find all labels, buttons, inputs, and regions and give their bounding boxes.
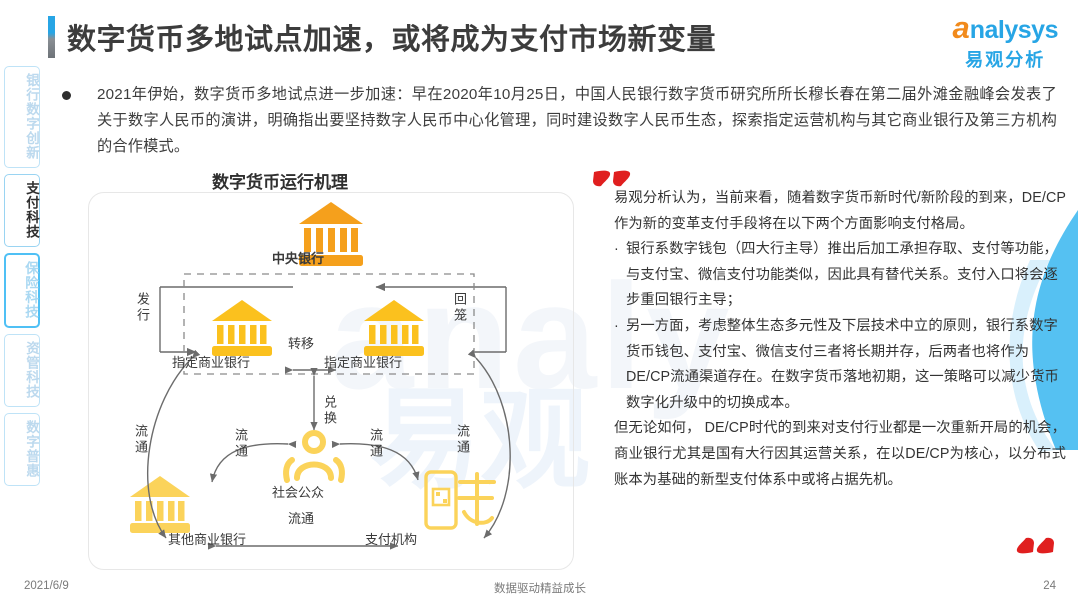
footer-page-number: 24 xyxy=(1043,580,1056,592)
payment-org-icon xyxy=(426,472,494,528)
diagram-label-designated-bank-left: 指定商业银行 xyxy=(172,352,250,371)
diagram-label-payment-org: 支付机构 xyxy=(365,529,417,548)
commentary-bullet-dot-icon: · xyxy=(614,237,626,314)
commentary-outro: 但无论如何， DE/CP时代的到来对支付行业都是一次重新开局的机会，商业银行尤其… xyxy=(614,416,1066,493)
commentary-intro: 易观分析认为，当前来看，随着数字货币新时代/新阶段的到来，DE/CP作为新的变革… xyxy=(614,186,1066,237)
diagram-label-recall: 回笼 xyxy=(450,292,469,324)
footer: 2021/6/9 数据驱动精益成长 24 xyxy=(0,580,1080,600)
intro-paragraph-text: 2021年伊始，数字货币多地试点进一步加速：早在2020年10月25日，中国人民… xyxy=(97,82,1057,160)
sidebar-tabs: 银行数字创新 支付科技 保险科技 资管科技 数字普惠 xyxy=(4,66,44,492)
diagram-label-designated-bank-right: 指定商业银行 xyxy=(324,352,402,371)
diagram-title: 数字货币运行机理 xyxy=(0,168,560,193)
commentary-bullet-1-text: 银行系数字钱包（四大行主导）推出后加工承担存取、支付等功能，与支付宝、微信支付功… xyxy=(626,237,1066,314)
title-accent-bar xyxy=(48,16,55,58)
designated-bank-right-icon xyxy=(364,300,424,356)
diagram-label-public: 社会公众 xyxy=(272,482,324,501)
diagram-label-circulate-right: 流通 xyxy=(453,424,472,456)
footer-slogan: 数据驱动精益成长 xyxy=(0,580,1080,596)
diagram-label-exchange: 兑换 xyxy=(320,395,339,427)
diagram-label-transfer: 转移 xyxy=(288,333,314,352)
commentary-bullet-1: · 银行系数字钱包（四大行主导）推出后加工承担存取、支付等功能，与支付宝、微信支… xyxy=(614,237,1066,314)
diagram-graphic xyxy=(88,192,574,570)
diagram-label-circulate-bottom: 流通 xyxy=(288,508,314,527)
diagram-label-circulate-left: 流通 xyxy=(131,424,150,456)
public-person-icon xyxy=(286,433,342,480)
diagram-label-central-bank: 中央银行 xyxy=(272,248,324,267)
logo-chinese-name: 易观分析 xyxy=(953,46,1059,72)
commentary-panel: 易观分析认为，当前来看，随着数字货币新时代/新阶段的到来，DE/CP作为新的变革… xyxy=(614,186,1066,493)
sidebar-item-asset-management-tech[interactable]: 资管科技 xyxy=(4,334,40,407)
diagram-label-other-bank: 其他商业银行 xyxy=(168,529,246,548)
sidebar-item-bank-digital-innovation[interactable]: 银行数字创新 xyxy=(4,66,40,168)
page-title: 数字货币多地试点加速，或将成为支付市场新变量 xyxy=(48,16,716,58)
logo-a-mark: a xyxy=(953,10,970,45)
sidebar-item-digital-inclusive-finance[interactable]: 数字普惠 xyxy=(4,413,40,486)
commentary-bullet-dot-icon: · xyxy=(614,314,626,416)
title-text: 数字货币多地试点加速，或将成为支付市场新变量 xyxy=(67,16,716,58)
other-bank-icon xyxy=(130,476,190,533)
slide-root: analy 易观 数字货币多地试点加速，或将成为支付市场新变量 analysys… xyxy=(0,0,1080,608)
quote-close-icon xyxy=(1016,534,1056,556)
brand-logo: analysys 易观分析 xyxy=(953,12,1059,72)
commentary-bullet-2: · 另一方面，考虑整体生态多元性及下层技术中立的原则，银行系数字货币钱包、支付宝… xyxy=(614,314,1066,416)
intro-bullet: 2021年伊始，数字货币多地试点进一步加速：早在2020年10月25日，中国人民… xyxy=(62,82,1057,160)
logo-wordmark: nalysys xyxy=(970,16,1058,44)
bullet-dot-icon xyxy=(62,91,71,100)
commentary-bullet-2-text: 另一方面，考虑整体生态多元性及下层技术中立的原则，银行系数字货币钱包、支付宝、微… xyxy=(626,314,1066,416)
designated-bank-left-icon xyxy=(212,300,272,356)
diagram-label-circulate-mid-left: 流通 xyxy=(231,428,250,460)
diagram-label-circulate-mid-right: 流通 xyxy=(366,428,385,460)
sidebar-item-insurance-tech[interactable]: 保险科技 xyxy=(4,253,40,328)
diagram-label-issue: 发行 xyxy=(133,292,152,324)
